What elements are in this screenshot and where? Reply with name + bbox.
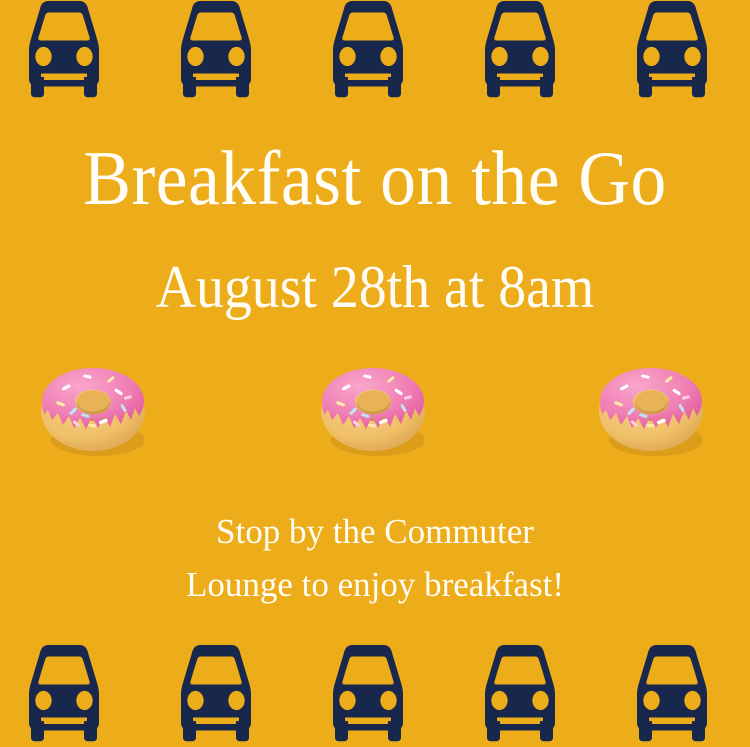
event-flyer: Breakfast on the Go August 28th at 8am xyxy=(0,0,750,747)
car-front-icon xyxy=(18,0,110,99)
donut-icon xyxy=(594,348,712,466)
car-front-icon xyxy=(170,643,262,743)
car-row-top xyxy=(0,0,750,106)
car-row-bottom xyxy=(0,643,750,747)
body-line: Stop by the Commuter xyxy=(0,505,750,558)
car-front-icon xyxy=(474,0,566,99)
body-line: Lounge to enjoy breakfast! xyxy=(0,558,750,611)
body-text-block: Stop by the Commuter Lounge to enjoy bre… xyxy=(0,505,750,611)
car-front-icon xyxy=(474,643,566,743)
car-front-icon xyxy=(322,643,414,743)
car-front-icon xyxy=(170,0,262,99)
page-title: Breakfast on the Go xyxy=(26,140,724,217)
donut-icon xyxy=(316,348,434,466)
donut-icon xyxy=(36,348,154,466)
donut-row xyxy=(0,348,750,468)
car-front-icon xyxy=(322,0,414,99)
car-front-icon xyxy=(18,643,110,743)
headline-block: Breakfast on the Go August 28th at 8am xyxy=(0,140,750,317)
event-datetime: August 28th at 8am xyxy=(26,257,724,317)
car-front-icon xyxy=(626,643,718,743)
car-front-icon xyxy=(626,0,718,99)
